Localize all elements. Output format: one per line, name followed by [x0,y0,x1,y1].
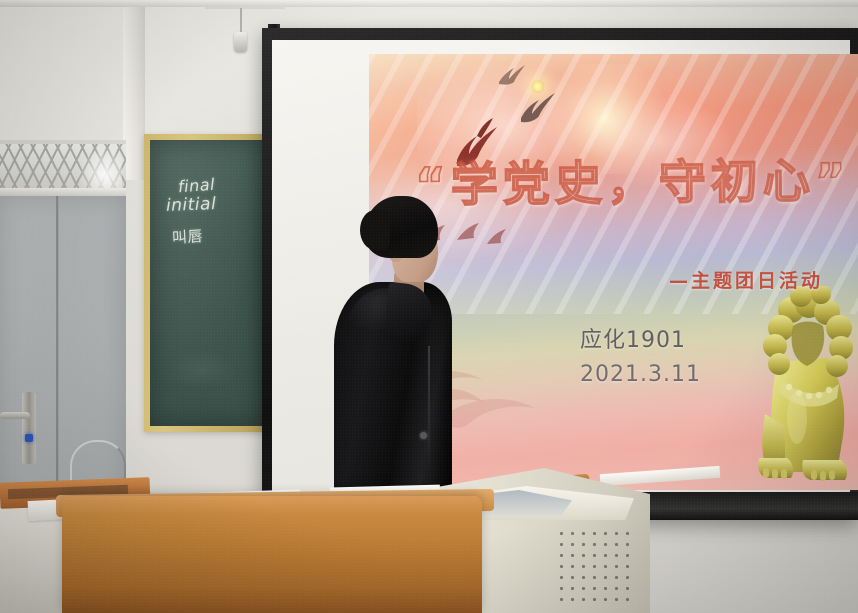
slide-date: 2021.3.11 [580,362,701,387]
guardian-lion-icon [741,286,858,490]
bird-icon-small [497,60,527,86]
slide-subtitle: —主题团日活动 [669,266,823,293]
ceiling-sensor-icon [234,32,247,52]
lattice-transom-window [0,140,126,192]
door-indicator-led [25,434,33,442]
window-glare [78,146,122,188]
hair-fringe [360,210,390,250]
gray-double-door[interactable] [0,196,126,506]
chalk-smudge [168,350,238,390]
ceiling-rail [205,5,285,9]
chalk-line-3: 叫唇 [171,225,203,248]
chalkboard[interactable]: final initial 叫唇 [150,140,264,426]
wooden-podium-desk[interactable] [62,496,482,613]
jacket-button [420,432,427,439]
chalk-line-2: initial [166,194,217,216]
door-seam [56,196,59,506]
classroom-photo: final initial 叫唇 [0,0,858,613]
wall-column [123,0,145,180]
sensor-wire [240,8,242,34]
speaker-grille-icon [556,528,634,604]
slide-title: “学党史，守初心” [415,158,851,210]
door-handle-icon[interactable] [0,412,30,419]
ceiling-trim [0,0,858,7]
student-presenter [334,196,454,496]
chalk-line-1: final [177,175,215,197]
bird-icon-medium [517,84,561,124]
jacket-seam [428,346,430,476]
door-lock-plate[interactable] [22,392,36,464]
slide-class-name: 应化1901 [580,322,686,354]
